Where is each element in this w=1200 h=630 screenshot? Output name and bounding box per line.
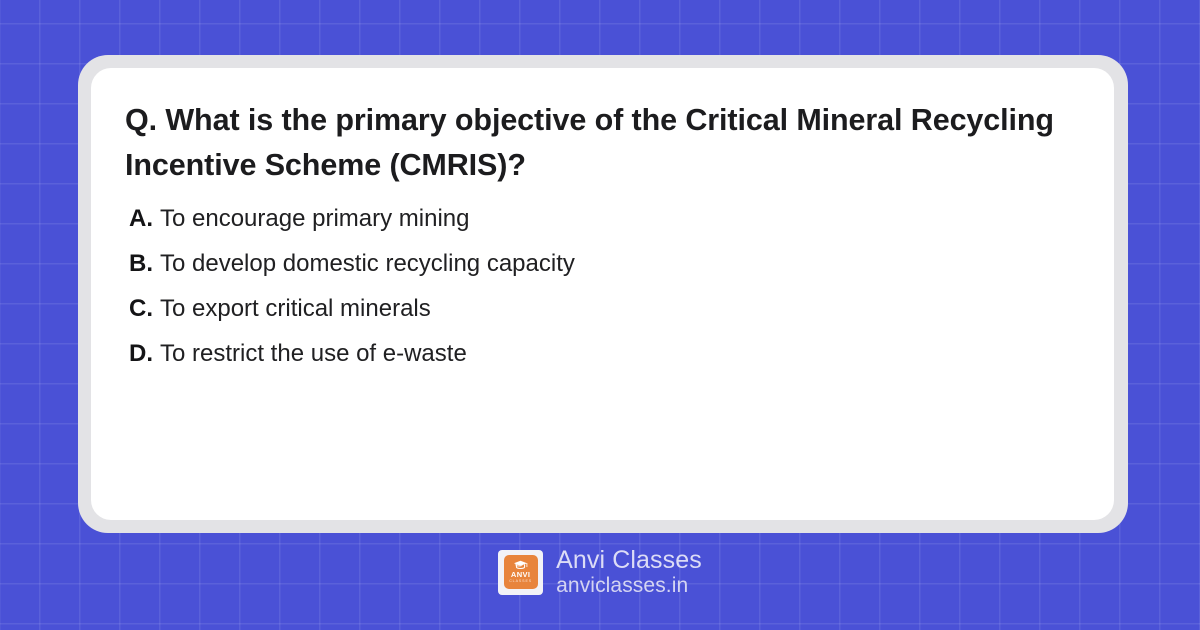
option-row-c[interactable]: C. To export critical minerals (125, 297, 1080, 342)
option-text-a: To encourage primary mining (160, 207, 469, 231)
option-letter-a: A. (129, 207, 153, 231)
option-row-b[interactable]: B. To develop domestic recycling capacit… (125, 252, 1080, 297)
question-text: Q. What is the primary objective of the … (125, 98, 1055, 189)
option-text-b: To develop domestic recycling capacity (160, 252, 575, 276)
brand-name: Anvi Classes (556, 546, 702, 574)
brand-logo-submark: CLASSES (509, 580, 532, 584)
brand-url[interactable]: anviclasses.in (556, 574, 702, 598)
option-letter-d: D. (129, 342, 153, 366)
footer-branding: ANVI CLASSES Anvi Classes anviclasses.in (0, 546, 1200, 598)
brand-logo-tile: ANVI CLASSES (498, 550, 543, 595)
option-row-d[interactable]: D. To restrict the use of e-waste (125, 342, 1080, 387)
option-letter-c: C. (129, 297, 153, 321)
option-row-a[interactable]: A. To encourage primary mining (125, 207, 1080, 252)
option-letter-b: B. (129, 252, 153, 276)
brand-text-block: Anvi Classes anviclasses.in (556, 546, 702, 598)
option-text-d: To restrict the use of e-waste (160, 342, 467, 366)
brand-logo-wordmark: ANVI (511, 571, 531, 579)
question-card-inner: Q. What is the primary objective of the … (91, 68, 1114, 520)
brand-logo-mark: ANVI CLASSES (504, 555, 538, 589)
option-text-c: To export critical minerals (160, 297, 431, 321)
options-list: A. To encourage primary mining B. To dev… (125, 207, 1080, 387)
question-card: Q. What is the primary objective of the … (78, 55, 1128, 533)
